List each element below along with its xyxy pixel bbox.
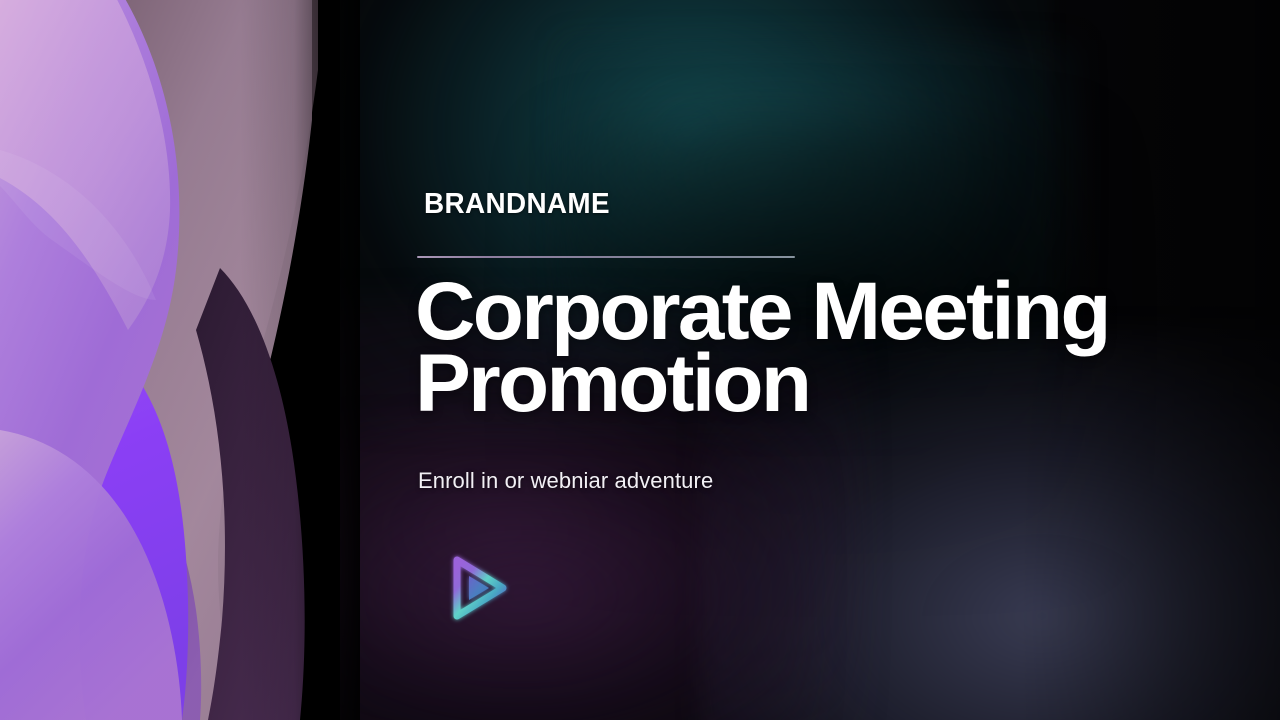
page-title-line-2: Promotion — [415, 348, 1211, 420]
page-title: Corporate Meeting Promotion — [415, 276, 1195, 420]
content-block: BRANDNAME Corporate Meeting Promotion En… — [417, 0, 1217, 720]
brand-name: BRANDNAME — [424, 190, 610, 219]
play-triangle-icon[interactable] — [433, 546, 521, 634]
title-divider — [417, 256, 795, 258]
promo-slide: BRANDNAME Corporate Meeting Promotion En… — [0, 0, 1280, 720]
abstract-ribbon-panel — [0, 0, 340, 720]
page-subtitle: Enroll in or webniar adventure — [418, 468, 713, 494]
